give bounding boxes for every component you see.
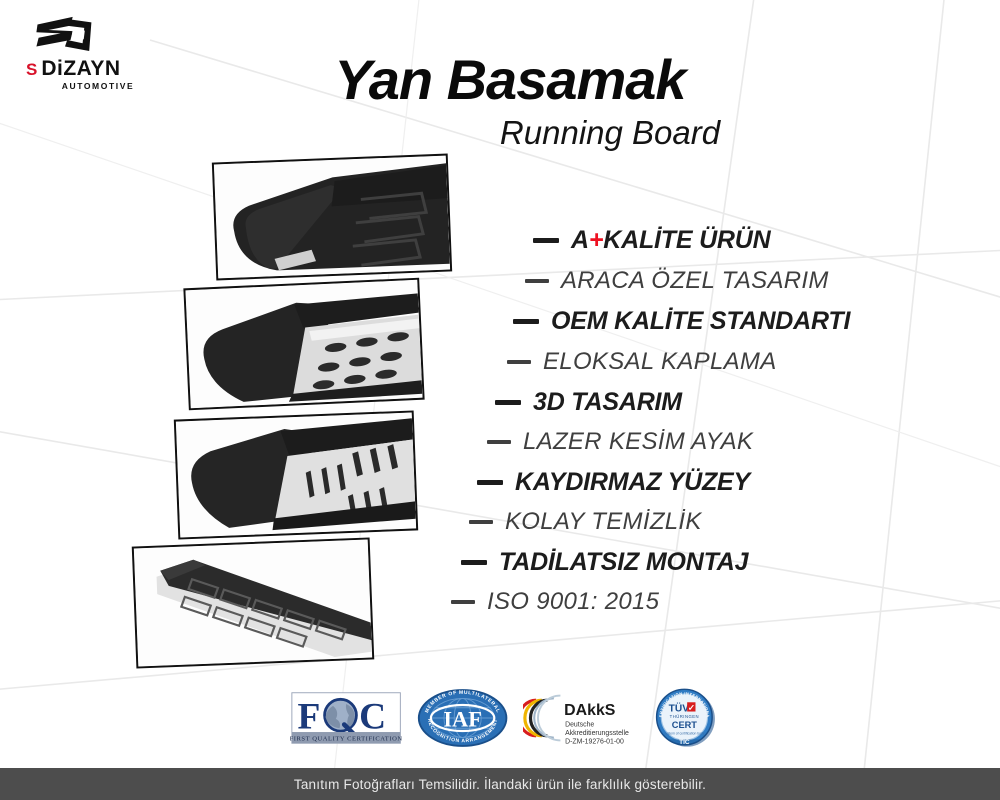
s-monogram-icon [32,14,98,56]
logo-initial: S [26,61,36,78]
bullet-dash-icon [451,600,475,604]
feature-label: OEM KALİTE STANDARTI [551,309,850,334]
feature-item: LAZER KESİM AYAK [487,430,753,454]
feature-item: ISO 9001: 2015 [451,590,659,614]
feature-label: KOLAY TEMİZLİK [505,510,702,534]
footer-disclaimer: Tanıtım Fotoğrafları Temsilidir. İlandak… [294,777,706,792]
bullet-dash-icon [487,440,511,444]
page-title: Yan Basamak [300,52,720,108]
feature-label-post: KALİTE ÜRÜN [603,228,770,253]
brand-logo: S DiZAYN AUTOMOTIVE [26,14,156,91]
tuv-small-line: system of certification body [664,732,704,736]
feature-label: TADİLATSIZ MONTAJ [499,550,748,575]
page-subtitle: Running Board [420,116,800,149]
bullet-dash-icon [533,238,559,243]
tuv-bottom-mark: TIC [679,739,690,746]
tuv-main-text: TÜV [668,702,689,715]
feature-label: ARACA ÖZEL TASARIM [561,269,829,293]
bullet-dash-icon [477,480,503,485]
bullet-dash-icon [461,560,487,565]
feature-label-pre: A [571,228,589,253]
iaf-certification-badge: IAF MEMBER OF MULTILATERAL RECOGNITION A… [416,685,509,751]
bullet-dash-icon [513,319,539,324]
feature-item: A+KALİTE ÜRÜN [533,228,771,253]
dakks-main-text: DAkkS [565,702,616,719]
tuv-region-text: THÜRINGEN [669,714,698,719]
feature-item: TADİLATSIZ MONTAJ [461,550,748,575]
feature-label: ELOKSAL KAPLAMA [543,350,777,374]
fqc-certification-badge: F C FIRST QUALITY CERTIFICATION [290,685,402,751]
bullet-dash-icon [495,400,521,405]
fqc-main-text: F [297,696,320,737]
feature-label: 3D TASARIM [533,390,682,415]
product-photo-frame-1 [212,154,452,281]
certification-badges: F C FIRST QUALITY CERTIFICATION IAF [290,678,720,758]
dakks-line3: D-ZM-19276-01-00 [566,738,625,745]
bullet-dash-icon [507,360,531,364]
logo-tagline: AUTOMOTIVE [40,81,156,91]
running-board-oval-holes-aluminium [185,280,422,408]
product-photo-frame-4 [132,537,375,668]
poster-canvas: S DiZAYN AUTOMOTIVE Yan Basamak Running … [0,0,1000,800]
bullet-dash-icon [525,279,549,283]
feature-plus-accent: + [589,228,603,253]
product-photo-frame-3 [174,410,418,539]
running-board-slotted-grip-aluminium [176,413,416,538]
feature-item: KOLAY TEMİZLİK [469,510,702,534]
product-photo-gallery [118,150,468,670]
feature-label: LAZER KESİM AYAK [523,430,753,454]
tuv-cert-label: CERT [671,720,697,730]
svg-text:C: C [359,696,386,737]
fqc-sub-text: FIRST QUALITY CERTIFICATION [290,735,402,742]
product-photo-frame-2 [183,278,424,411]
footer-bar: Tanıtım Fotoğrafları Temsilidir. İlandak… [0,768,1000,800]
feature-item: ARACA ÖZEL TASARIM [525,269,829,293]
dakks-certification-badge: DAkkS Deutsche Akkreditierungsstelle D-Z… [523,685,637,751]
feature-item: 3D TASARIM [495,390,682,415]
feature-label: KAYDIRMAZ YÜZEY [515,470,750,495]
dakks-line2: Akkreditierungsstelle [566,730,630,737]
feature-item: OEM KALİTE STANDARTI [513,309,850,334]
dakks-line1: Deutsche [566,721,595,728]
bullet-dash-icon [469,520,493,524]
logo-name: DiZAYN [41,58,120,79]
tuv-cert-certification-badge: CERTIFICATION INTERNATIONAL TÜV ✓ THÜRIN… [652,685,720,751]
iaf-main-text: IAF [444,706,483,731]
feature-item: ELOKSAL KAPLAMA [507,350,777,374]
feature-item: KAYDIRMAZ YÜZEY [477,470,750,495]
svg-text:✓: ✓ [687,703,694,713]
feature-label: ISO 9001: 2015 [487,590,659,614]
running-board-rubber-tread-full [134,540,372,667]
running-board-textured-top-closeup [214,156,450,279]
feature-list: A+KALİTE ÜRÜN ARACA ÖZEL TASARIM OEM KAL… [455,222,915,602]
